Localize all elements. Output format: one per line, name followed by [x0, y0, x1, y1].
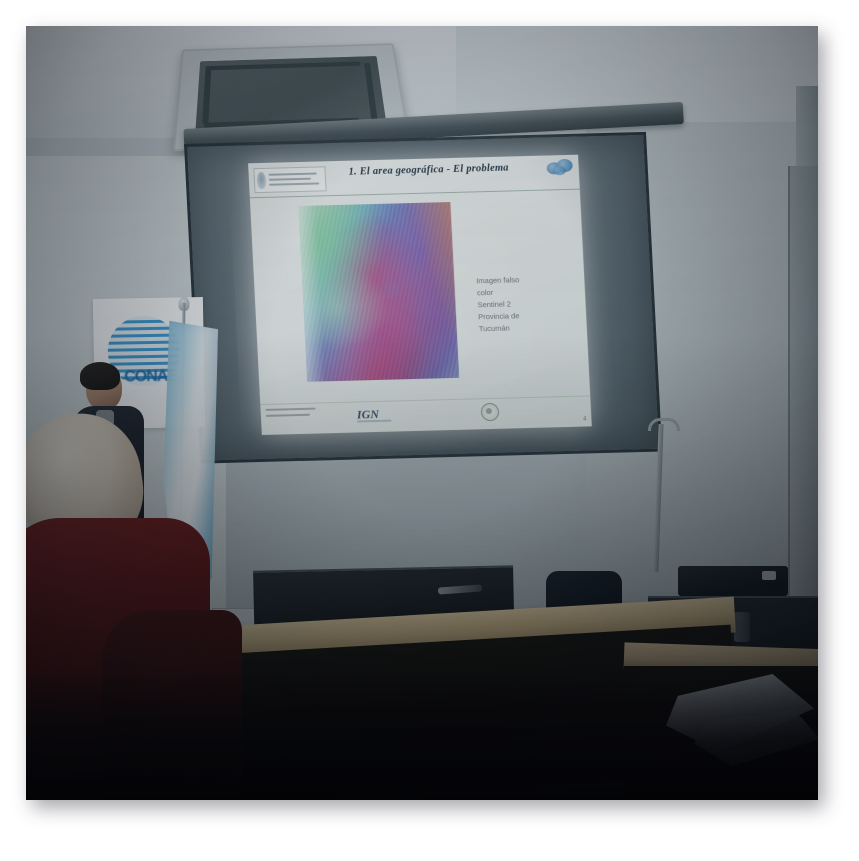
crest-emblem-icon [257, 172, 267, 189]
slide-caption: Imagen falso color Sentinel 2 Provincia … [476, 273, 575, 335]
conae-cloud-logo [544, 157, 575, 178]
photograph-frame: 1. El area geográfica - El problema [26, 26, 818, 800]
wall-mounted-rod-hook [648, 418, 680, 431]
projection-screen: 1. El area geográfica - El problema [184, 132, 662, 464]
slide-page-number: 4 [583, 416, 587, 422]
sentinel-2-false-color-image [298, 202, 459, 382]
slide-title: 1. El area geográfica - El problema [328, 162, 529, 178]
door-frame [788, 166, 818, 596]
projected-slide: 1. El area geográfica - El problema [248, 155, 592, 435]
institutional-seal-icon [480, 403, 499, 421]
cabinet-handle [734, 612, 750, 642]
audience-member-foreground [26, 414, 226, 800]
presenter-hair [80, 362, 120, 390]
ministry-crest-logo [253, 166, 326, 193]
ign-logo-underline [357, 420, 391, 423]
slide-footer-credits [266, 408, 318, 409]
slide-footer: IGN 4 [260, 395, 592, 435]
av-equipment-box [678, 566, 788, 596]
audience-member-shoulder [102, 610, 242, 800]
equipment-indicator-light [762, 571, 776, 580]
slide-header: 1. El area geográfica - El problema [248, 155, 580, 199]
projection-screen-surface: 1. El area geográfica - El problema [184, 132, 662, 464]
caption-line-5: Tucumán [478, 321, 575, 335]
